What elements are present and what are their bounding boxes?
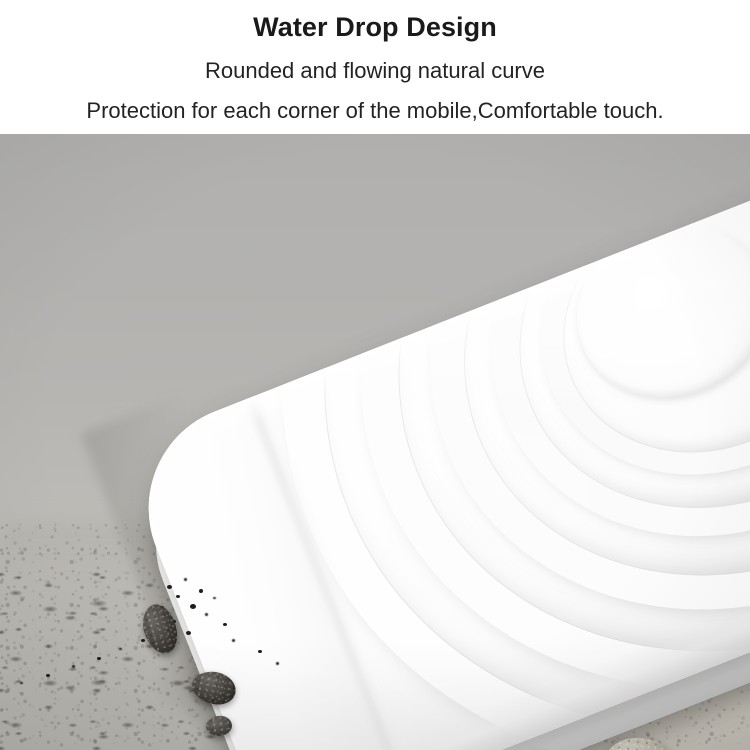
- phone-case: [0, 134, 750, 750]
- product-feature-image: Water Drop Design Rounded and flowing na…: [0, 0, 750, 750]
- subtitle-secondary: Protection for each corner of the mobile…: [0, 97, 750, 125]
- case-body: [118, 168, 750, 750]
- product-photo: [0, 134, 750, 750]
- subtitle-primary: Rounded and flowing natural curve: [0, 57, 750, 85]
- page-title: Water Drop Design: [0, 11, 750, 43]
- header-text-block: Water Drop Design Rounded and flowing na…: [0, 0, 750, 134]
